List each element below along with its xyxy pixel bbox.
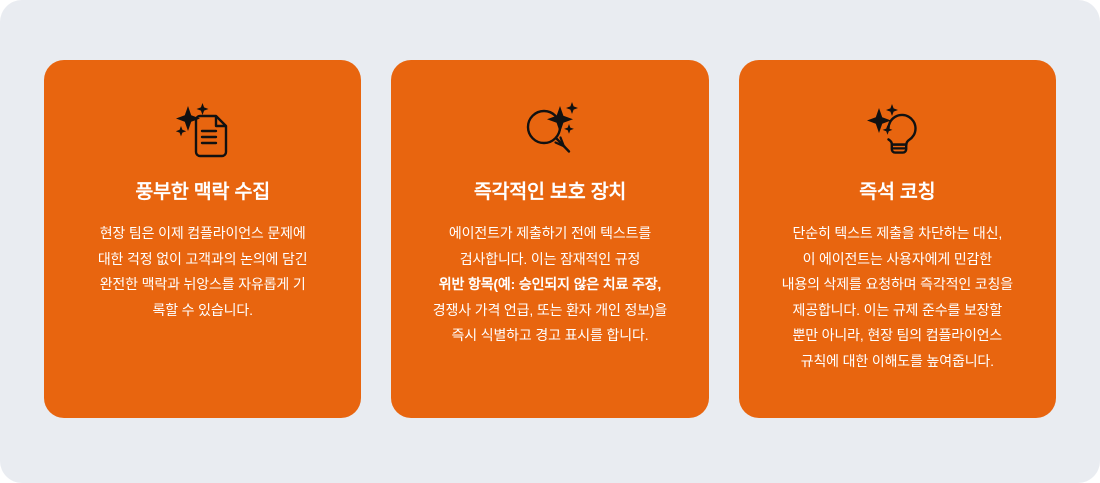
card-title: 즉각적인 보호 장치 [474,180,626,204]
card-body-line: 제공합니다. 이는 규제 준수를 보장할 [782,298,1013,324]
card-body-line: 내용의 삭제를 요청하며 즉각적인 코칭을 [782,272,1013,298]
card-body-line: 대한 걱정 없이 고객과의 논의에 담긴 [98,247,308,273]
page-root: 풍부한 맥락 수집 현장 팀은 이제 컴플라이언스 문제에 대한 걱정 없이 고… [0,0,1100,483]
card-title: 즉석 코칭 [859,180,935,204]
card-body-line: 규칙에 대한 이해도를 높여줍니다. [782,349,1013,375]
card-body-line: 뿐만 아니라, 현장 팀의 컴플라이언스 [782,323,1013,349]
card-body-line: 현장 팀은 이제 컴플라이언스 문제에 [98,221,308,247]
feature-card[interactable]: 즉각적인 보호 장치 에이전트가 제출하기 전에 텍스트를 검사합니다. 이는 … [391,60,708,418]
card-body-line: 에이전트가 제출하기 전에 텍스트를 [433,221,667,247]
feature-cards-panel: 풍부한 맥락 수집 현장 팀은 이제 컴플라이언스 문제에 대한 걱정 없이 고… [0,0,1100,483]
sparkle-document-icon [170,100,236,162]
card-body-line: 즉시 식별하고 경고 표시를 합니다. [433,323,667,349]
card-body-line: 경쟁사 가격 언급, 또는 환자 개인 정보)을 [433,298,667,324]
feature-card[interactable]: 풍부한 맥락 수집 현장 팀은 이제 컴플라이언스 문제에 대한 걱정 없이 고… [44,60,361,418]
card-body-line: 단순히 텍스트 제출을 차단하는 대신, [782,221,1013,247]
card-body-line-emphasis: 위반 항목(예: 승인되지 않은 치료 주장, [433,272,667,298]
feature-cards-row: 풍부한 맥락 수집 현장 팀은 이제 컴플라이언스 문제에 대한 걱정 없이 고… [44,60,1056,418]
card-body: 단순히 텍스트 제출을 차단하는 대신, 이 에이전트는 사용자에게 민감한 내… [782,221,1013,374]
card-body-line: 이 에이전트는 사용자에게 민감한 [782,247,1013,273]
card-body-line: 검사합니다. 이는 잠재적인 규정 [433,247,667,273]
card-body-line: 록할 수 있습니다. [98,298,308,324]
sparkle-magnifier-icon [517,100,583,162]
card-body-line: 완전한 맥락과 뉘앙스를 자유롭게 기 [98,272,308,298]
card-title: 풍부한 맥락 수집 [135,180,270,204]
sparkle-lightbulb-icon [864,100,930,162]
feature-card[interactable]: 즉석 코칭 단순히 텍스트 제출을 차단하는 대신, 이 에이전트는 사용자에게… [739,60,1056,418]
card-body: 에이전트가 제출하기 전에 텍스트를 검사합니다. 이는 잠재적인 규정 위반 … [433,221,667,349]
card-body: 현장 팀은 이제 컴플라이언스 문제에 대한 걱정 없이 고객과의 논의에 담긴… [98,221,308,323]
